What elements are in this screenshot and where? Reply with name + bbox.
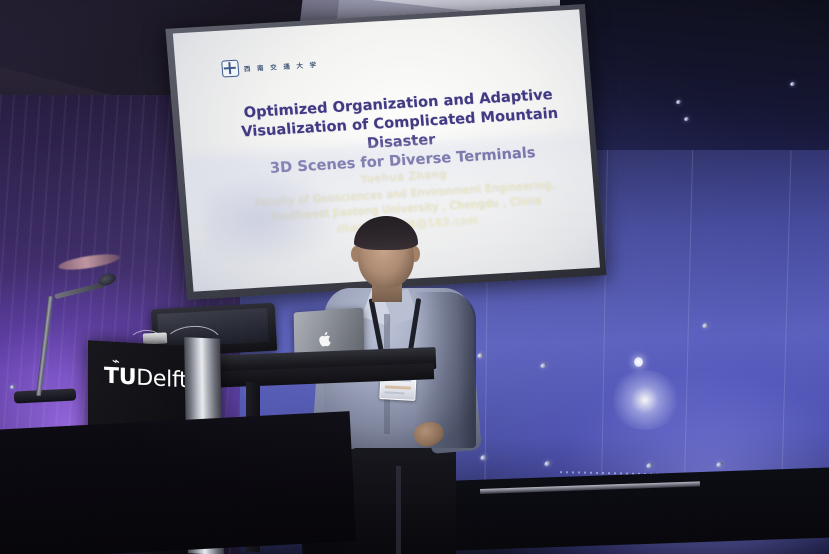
apple-logo-icon: [317, 330, 333, 348]
university-emblem-icon: [221, 60, 239, 78]
presenter-hair: [354, 216, 418, 250]
ceiling-spotlight: [634, 357, 643, 367]
tu-delft-brand-light: Delft: [136, 365, 187, 393]
university-name-text: 西 南 交 通 大 学: [243, 58, 318, 72]
presentation-photo: 西 南 交 通 大 学 Optimized Organization and A…: [0, 0, 829, 554]
tu-delft-wordmark: TUDelft: [104, 364, 187, 394]
upper-dark-wall: [560, 0, 829, 160]
tu-delft-brand-bold: TU: [104, 364, 136, 391]
badge-line: [385, 391, 405, 394]
trouser-seam: [396, 466, 401, 554]
spotlight-bloom: [610, 370, 680, 430]
badge-line: [385, 385, 411, 389]
tu-delft-logo: ⌁ TUDelft: [104, 356, 187, 394]
slide-institution-logo: 西 南 交 通 大 学: [221, 55, 319, 78]
stage-floor: [0, 411, 356, 554]
